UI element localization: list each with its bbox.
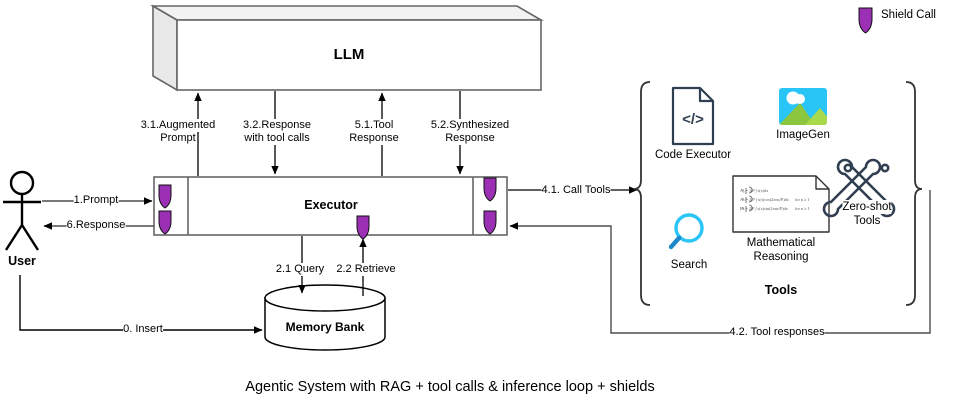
edge-label-call-tools: 4.1. Call Tools bbox=[542, 184, 611, 197]
tool-label-math-line1: Mathematical bbox=[747, 236, 815, 250]
tool-label-code-executor: Code Executor bbox=[655, 148, 731, 162]
memory-bank-node[interactable] bbox=[265, 285, 385, 350]
user-label: User bbox=[8, 255, 36, 268]
user-node[interactable] bbox=[3, 172, 41, 250]
magnifier-icon bbox=[671, 215, 702, 247]
svg-text:</>: </> bbox=[682, 111, 704, 128]
edge-label-prompt: 1.Prompt bbox=[74, 194, 119, 207]
edge-label-response: 6.Response bbox=[67, 219, 126, 232]
svg-text:for n ≥ 1: for n ≥ 1 bbox=[795, 197, 810, 202]
edge-insert bbox=[20, 275, 262, 330]
edge-label-response-tool-calls-line1: 3.2.Response bbox=[243, 119, 311, 132]
legend-shield-icon bbox=[859, 8, 872, 33]
tools-group-label: Tools bbox=[765, 284, 797, 297]
edge-label-tool-response-line1: 5.1.Tool bbox=[355, 119, 394, 132]
memory-bank-label: Memory Bank bbox=[286, 321, 365, 334]
tool-label-math-line2: Reasoning bbox=[754, 250, 809, 264]
tool-label-zeroshot-line2: Tools bbox=[854, 214, 881, 228]
image-picture-icon bbox=[779, 88, 834, 125]
edge-label-response-tool-calls-line2: with tool calls bbox=[244, 132, 309, 145]
executor-label: Executor bbox=[304, 199, 358, 212]
edge-label-retrieve: 2.2 Retrieve bbox=[336, 263, 395, 276]
diagram-caption: Agentic System with RAG + tool calls & i… bbox=[245, 378, 654, 396]
diagram-canvas: </> bbox=[0, 0, 970, 411]
svg-text:for n ≥ 1: for n ≥ 1 bbox=[795, 206, 810, 211]
edge-label-tool-responses: 4.2. Tool responses bbox=[729, 326, 824, 339]
edge-label-insert: 0. Insert bbox=[123, 323, 163, 336]
edge-label-augmented-prompt-line2: Prompt bbox=[160, 132, 195, 145]
edge-label-synthesized-line2: Response bbox=[445, 132, 495, 145]
tool-label-search: Search bbox=[671, 258, 707, 272]
code-document-icon: </> bbox=[673, 88, 713, 144]
edge-label-tool-response-line2: Response bbox=[349, 132, 399, 145]
edge-label-synthesized-line1: 5.2.Synthesized bbox=[431, 119, 509, 132]
legend-label: Shield Call bbox=[881, 9, 936, 22]
llm-label: LLM bbox=[334, 46, 365, 64]
edge-label-query: 2.1 Query bbox=[276, 263, 324, 276]
tool-label-zeroshot-line1: Zero-shot bbox=[842, 200, 891, 214]
diagram-vector-layer: </> bbox=[0, 0, 970, 411]
tool-label-image-gen: ImageGen bbox=[776, 128, 830, 142]
formula-document-icon: A₀ = 1/P ∫ s(x)dx Aₙ = 2/P ∫ s(x)cos(2πn… bbox=[733, 176, 829, 232]
edge-label-augmented-prompt-line1: 3.1.Augmented bbox=[141, 119, 216, 132]
